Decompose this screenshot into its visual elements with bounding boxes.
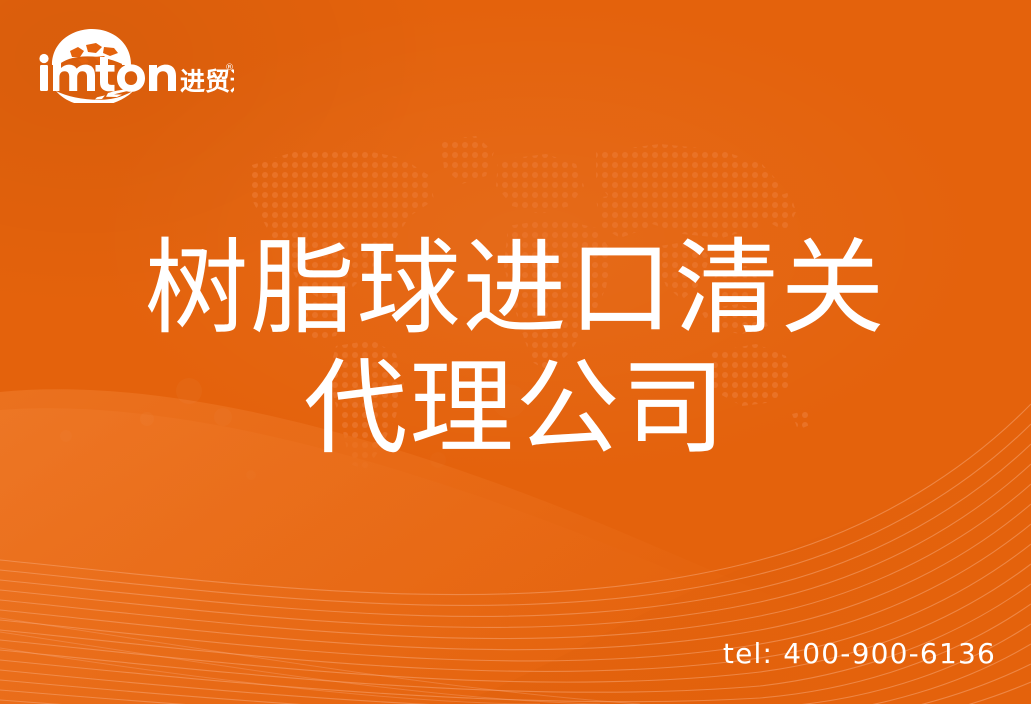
contact-phone[interactable]: tel: 400-900-6136	[723, 637, 996, 670]
imton-logo[interactable]: 进贸通 ®	[34, 27, 234, 103]
bokeh-dot	[246, 470, 256, 480]
globe-arc-icon	[52, 29, 131, 67]
promo-banner: 进贸通 ® 树脂球进口清关 代理公司 tel: 400-900-6136	[0, 0, 1031, 704]
swoosh-plane-icon	[56, 89, 134, 103]
page-title: 树脂球进口清关 代理公司	[0, 228, 1031, 468]
logo-trademark-icon: ®	[225, 63, 234, 73]
headline-line-1: 树脂球进口清关	[0, 228, 1031, 348]
headline-line-2: 代理公司	[0, 348, 1031, 468]
